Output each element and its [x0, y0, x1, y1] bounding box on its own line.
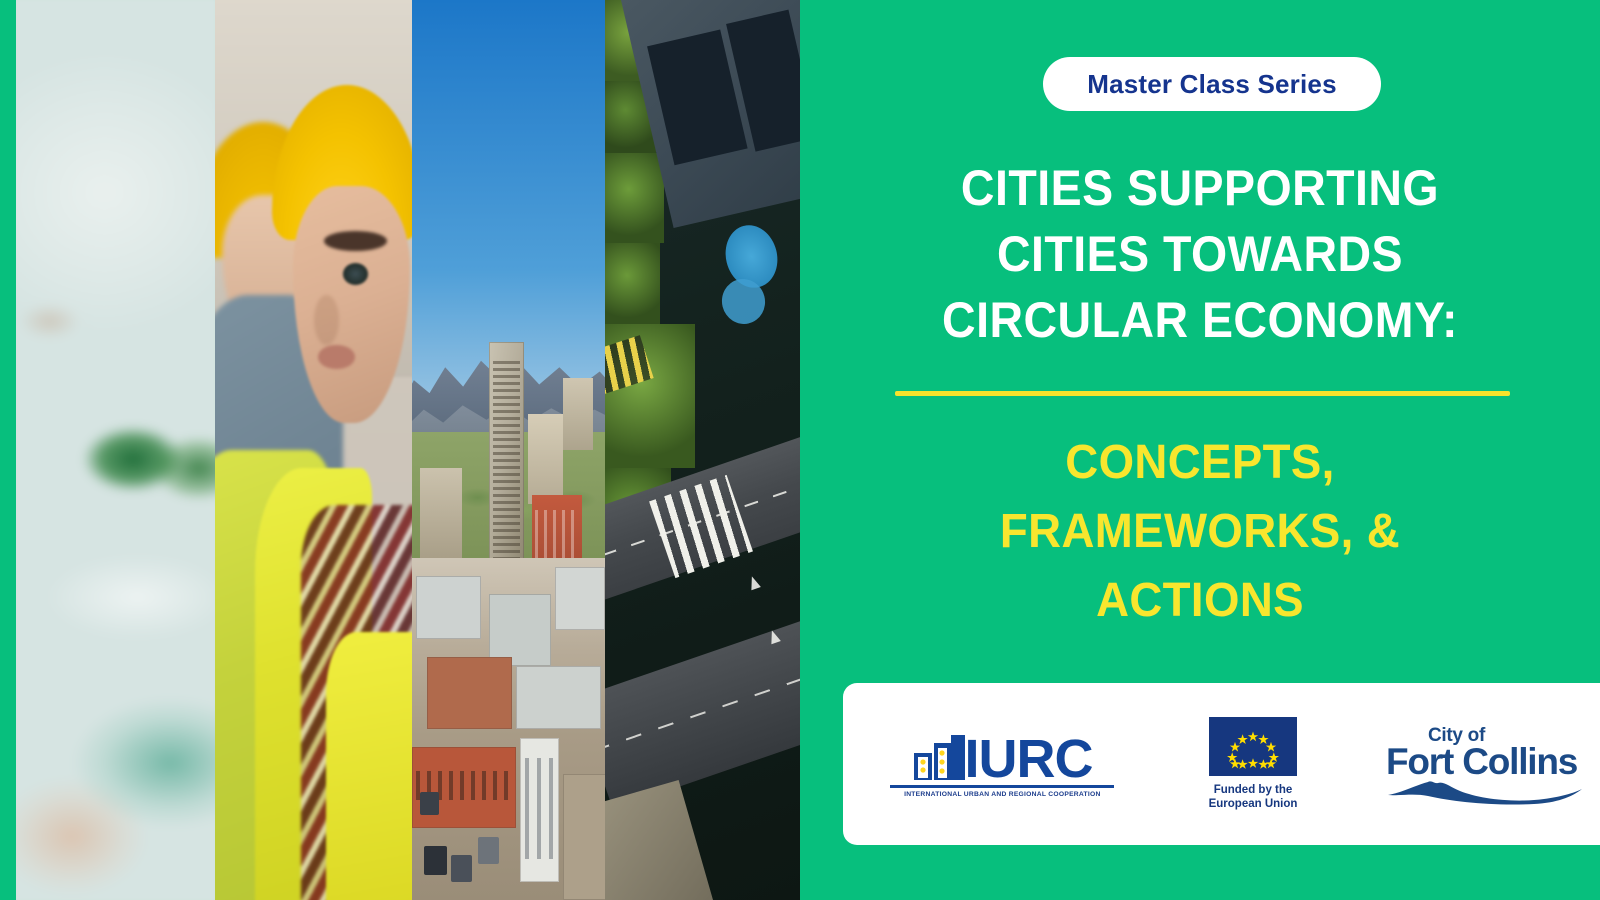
- title-line-1: CITIES SUPPORTING: [893, 155, 1507, 221]
- plant-photo-image: [16, 0, 215, 900]
- building-midrise-center: [528, 414, 563, 504]
- fort-collins-name-text: Fort Collins: [1386, 741, 1577, 783]
- eu-funding-text: Funded by the European Union: [1209, 784, 1298, 811]
- aerial-photo-image: [605, 0, 800, 900]
- photo-strip-group: [0, 0, 800, 900]
- subtitle-line-1: CONCEPTS,: [887, 428, 1514, 497]
- worker-nose: [314, 295, 339, 345]
- white-building-foreground: [520, 738, 559, 882]
- rooftop-6: [563, 774, 605, 900]
- building-midrise-right: [563, 378, 594, 450]
- buildings-icon: [912, 731, 968, 783]
- photo-strip-fort-collins-downtown: [412, 0, 605, 900]
- title-line-2: CITIES TOWARDS: [893, 221, 1507, 287]
- eu-funding-line-1: Funded by the: [1209, 784, 1298, 798]
- workers-photo-image: [215, 0, 412, 900]
- brick-facade-foreground: [412, 747, 516, 828]
- parked-car-1: [424, 846, 447, 875]
- subtitle-line-2: FRAMEWORKS, &: [887, 497, 1514, 566]
- badge-label: Master Class Series: [1087, 69, 1337, 100]
- master-class-series-badge: Master Class Series: [1043, 57, 1381, 111]
- photo-strip-construction-workers: [215, 0, 412, 900]
- iurc-underline: [890, 785, 1114, 788]
- landmark-tower: [489, 342, 524, 576]
- subtitle-line-3: ACTIONS: [887, 566, 1514, 635]
- worker-eye: [343, 263, 368, 285]
- european-union-logo: Funded by the European Union: [1183, 717, 1323, 811]
- cityscape-photo-image: [412, 0, 605, 900]
- iurc-logo-main: IURC: [912, 731, 1093, 783]
- iurc-logo: IURC INTERNATIONAL URBAN AND REGIONAL CO…: [877, 731, 1127, 798]
- parked-car-2: [451, 855, 472, 882]
- mountain-wave-icon: [1384, 779, 1584, 805]
- eu-stars-circle: [1209, 717, 1297, 776]
- aerial-tree-4: [605, 243, 660, 324]
- eu-funding-line-2: European Union: [1209, 798, 1298, 812]
- rooftop-3: [555, 567, 605, 630]
- parked-car-4: [420, 792, 439, 815]
- aerial-tree-3: [605, 153, 664, 243]
- title-line-3: CIRCULAR ECONOMY:: [893, 287, 1507, 353]
- poster-title: CITIES SUPPORTING CITIES TOWARDS CIRCULA…: [870, 155, 1530, 353]
- poster-canvas: Master Class Series CITIES SUPPORTING CI…: [0, 0, 1600, 900]
- worker-eyebrow: [324, 231, 387, 251]
- city-of-fort-collins-logo: City of Fort Collins: [1379, 723, 1589, 805]
- eu-flag-icon: [1209, 717, 1297, 776]
- hivis-vest-front-lower: [326, 632, 412, 900]
- worker-lips: [318, 345, 356, 369]
- iurc-logo-wrap: IURC INTERNATIONAL URBAN AND REGIONAL CO…: [890, 731, 1114, 798]
- aerial-plaza: [605, 780, 714, 900]
- photo-strip-aerial-city: [605, 0, 800, 900]
- left-green-edge: [0, 0, 16, 900]
- rooftop-4: [427, 657, 512, 729]
- parked-car-3: [478, 837, 499, 864]
- iurc-tagline: INTERNATIONAL URBAN AND REGIONAL COOPERA…: [904, 791, 1101, 798]
- yellow-divider: [895, 391, 1510, 396]
- rooftop-5: [516, 666, 601, 729]
- rooftop-1: [416, 576, 482, 639]
- iurc-acronym: IURC: [965, 736, 1093, 782]
- poster-subtitle: CONCEPTS, FRAMEWORKS, & ACTIONS: [870, 428, 1530, 635]
- fort-collins-logo-wrap: City of Fort Collins: [1384, 723, 1584, 805]
- logo-bar: IURC INTERNATIONAL URBAN AND REGIONAL CO…: [843, 683, 1600, 845]
- building-midrise-left: [420, 468, 462, 558]
- photo-strip-blurred-plant: [16, 0, 215, 900]
- road-arrow-1: [747, 575, 761, 591]
- rooftop-2: [489, 594, 551, 666]
